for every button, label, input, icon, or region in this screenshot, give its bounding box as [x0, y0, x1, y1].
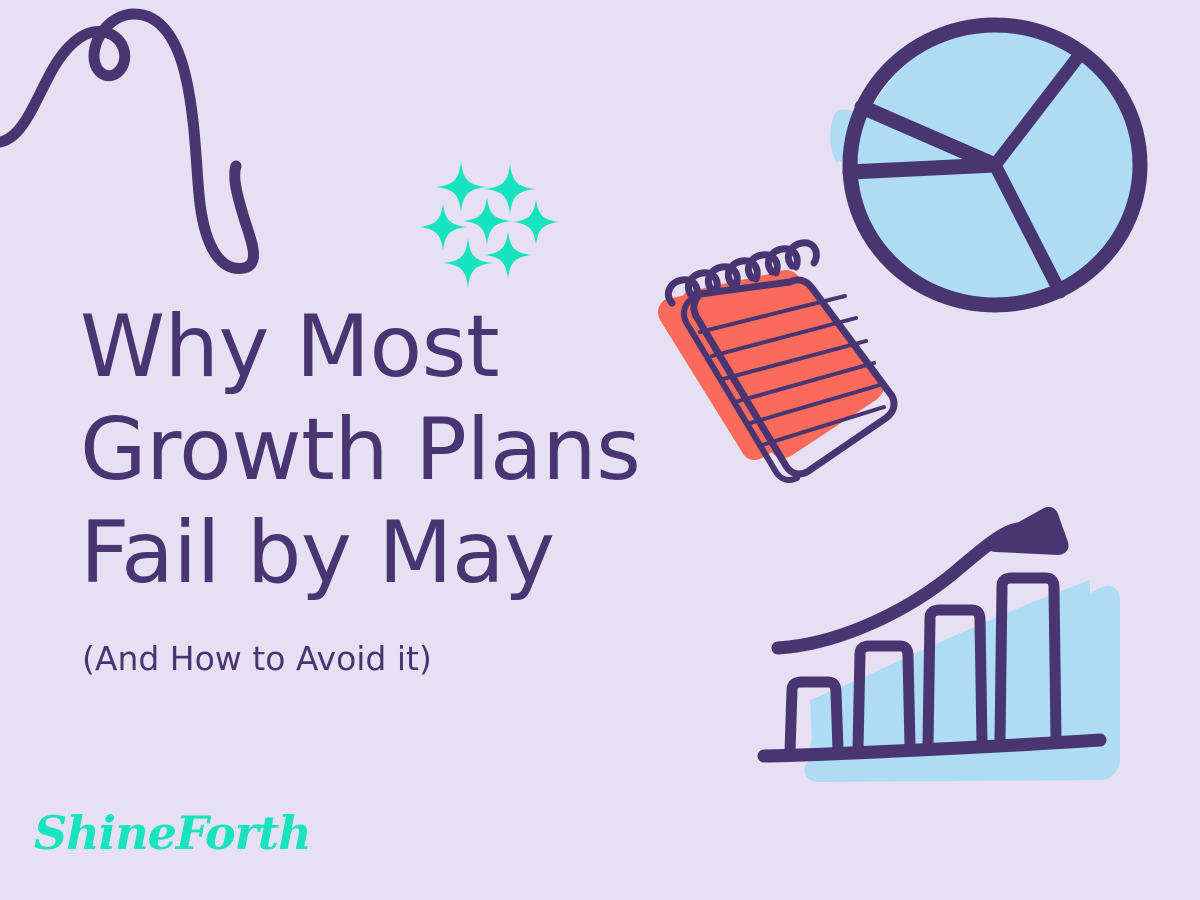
headline-line-2: Growth Plans: [80, 399, 720, 502]
curly-squiggle-icon: [0, 14, 254, 268]
page-subtitle: (And How to Avoid it): [82, 638, 432, 680]
page-title: Why Most Growth Plans Fail by May: [80, 296, 720, 605]
headline-line-1: Why Most: [80, 296, 720, 399]
pie-chart-icon: [830, 25, 1144, 305]
headline-line-3: Fail by May: [80, 502, 720, 605]
growth-bar-chart-icon: [764, 507, 1120, 782]
poster-canvas: Why Most Growth Plans Fail by May (And H…: [0, 0, 1200, 900]
sparkle-cluster-icon: [419, 161, 559, 288]
brand-logo-text: ShineForth: [34, 798, 314, 868]
brand-logo: ShineForth: [34, 798, 314, 868]
